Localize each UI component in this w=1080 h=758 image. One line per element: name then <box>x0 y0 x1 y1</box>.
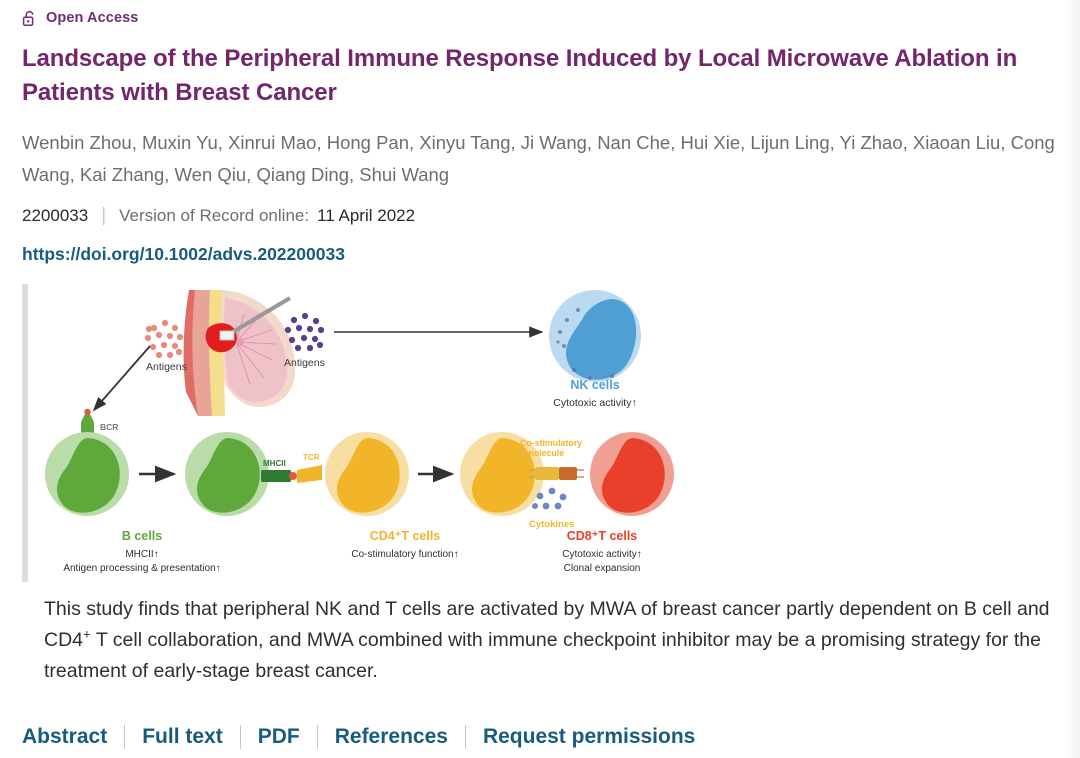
cd8-cell <box>590 432 674 516</box>
summary-superscript: + <box>83 627 91 642</box>
mhcii-tcr-junction: MHCII TCR <box>261 453 322 483</box>
cd4-cell-1 <box>325 432 409 516</box>
nk-cells-caption: Cytotoxic activity↑ <box>553 397 636 409</box>
nk-cell: NK cells Cytotoxic activity↑ <box>549 290 641 409</box>
bcr-receptor: BCR <box>81 409 118 436</box>
article-id: 2200033 <box>22 204 88 228</box>
action-divider <box>317 725 318 749</box>
costim-label-line2: molecule <box>526 448 564 458</box>
graphical-abstract-summary: This study finds that peripheral NK and … <box>44 594 1062 687</box>
tcr-label: TCR <box>303 453 320 462</box>
open-access-badge: Open Access <box>22 0 1062 28</box>
bcr-label: BCR <box>100 422 118 432</box>
article-card: Open Access Landscape of the Peripheral … <box>0 0 1080 758</box>
b-cells-title: B cells <box>122 529 162 543</box>
summary-part-2: T cell collaboration, and MWA combined w… <box>44 629 1041 682</box>
cd4-cells-caption: Co-stimulatory function↑ <box>351 549 458 560</box>
action-divider <box>124 725 125 749</box>
antigens-left-label: Antigens <box>146 361 187 373</box>
version-date: 11 April 2022 <box>317 204 415 228</box>
cd8-cells-caption-2: Clonal expansion <box>564 563 641 574</box>
cd4-cells-title: CD4⁺T cells <box>370 529 441 543</box>
page-edge-shadow <box>1063 0 1080 758</box>
immune-response-diagram: Antigens Antigens <box>22 284 682 584</box>
b-cells-caption-2: Antigen processing & presentation↑ <box>63 563 220 574</box>
graphical-abstract-figure[interactable]: Antigens Antigens <box>22 284 682 584</box>
costim-label-line1: Co-stimulatory <box>520 438 582 448</box>
full-text-link[interactable]: Full text <box>142 725 223 749</box>
version-label: Version of Record online: <box>119 204 309 228</box>
open-lock-icon <box>22 10 37 27</box>
abstract-link[interactable]: Abstract <box>22 725 107 749</box>
request-permissions-link[interactable]: Request permissions <box>483 725 695 749</box>
b-cell-2 <box>185 432 269 516</box>
action-divider <box>240 725 241 749</box>
open-access-label: Open Access <box>46 11 138 26</box>
meta-divider: | <box>101 204 106 228</box>
article-actions: Abstract Full text PDF References Reques… <box>22 725 695 749</box>
nk-cells-title: NK cells <box>570 378 619 392</box>
action-divider <box>465 725 466 749</box>
pdf-link[interactable]: PDF <box>258 725 300 749</box>
references-link[interactable]: References <box>335 725 448 749</box>
b-cells-caption-1: MHCII↑ <box>125 549 158 560</box>
article-content: Open Access Landscape of the Peripheral … <box>22 0 1062 707</box>
mhcii-label: MHCII <box>263 459 286 468</box>
article-meta: 2200033 | Version of Record online: 11 A… <box>22 204 1062 228</box>
b-cell-1 <box>45 432 129 516</box>
doi-link[interactable]: https://doi.org/10.1002/advs.202200033 <box>22 244 345 265</box>
author-list: Wenbin Zhou, Muxin Yu, Xinrui Mao, Hong … <box>22 127 1062 191</box>
antigens-right-label: Antigens <box>284 357 325 369</box>
cd8-cells-title: CD8⁺T cells <box>567 529 638 543</box>
cd8-cells-caption-1: Cytotoxic activity↑ <box>562 549 641 560</box>
article-title[interactable]: Landscape of the Peripheral Immune Respo… <box>22 42 1057 110</box>
